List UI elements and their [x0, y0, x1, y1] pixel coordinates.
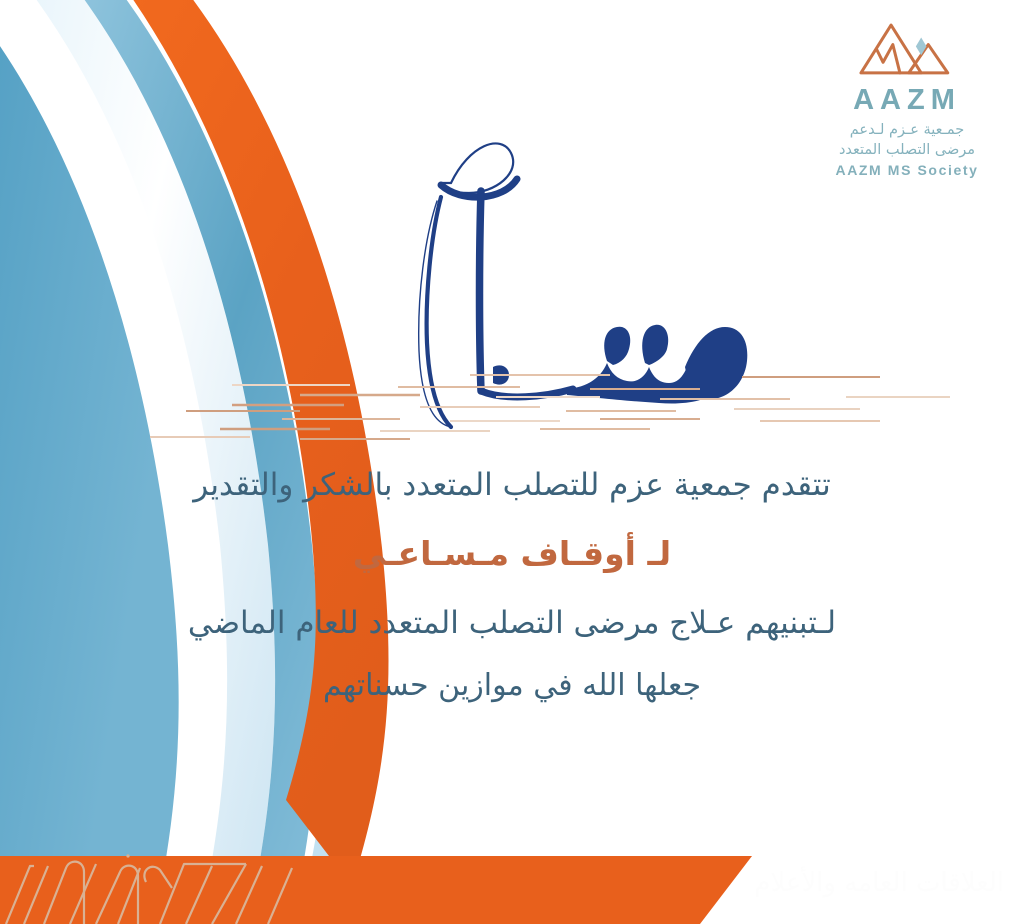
message-line-2-highlight: لـ أوقـاف مـسـاعـي [0, 529, 1024, 579]
message-block: تتقدم جمعية عزم للتصلب المتعدد بالشكر وا… [0, 462, 1024, 708]
calligraphy-block: مساعي [0, 105, 1024, 445]
message-line-4: جعلها الله في موازين حسناتهم [0, 663, 1024, 708]
footer-bar: العلاقات العامه والأعلام [0, 842, 1024, 924]
message-line-3: لـتبنيهم عـلاج مرضى التصلب المتعدد للعام… [0, 600, 1024, 647]
decorative-hatch-lines [0, 367, 1024, 447]
footer-lineart-pattern [0, 842, 300, 924]
aazm-mountain-mark-icon [853, 18, 961, 80]
footer-label: العلاقات العامه والأعلام [754, 868, 1004, 898]
message-line-1: تتقدم جمعية عزم للتصلب المتعدد بالشكر وا… [0, 462, 1024, 509]
poster-canvas: AAZM جمـعية عـزم لـدعم مرضى التصلب المتع… [0, 0, 1024, 924]
